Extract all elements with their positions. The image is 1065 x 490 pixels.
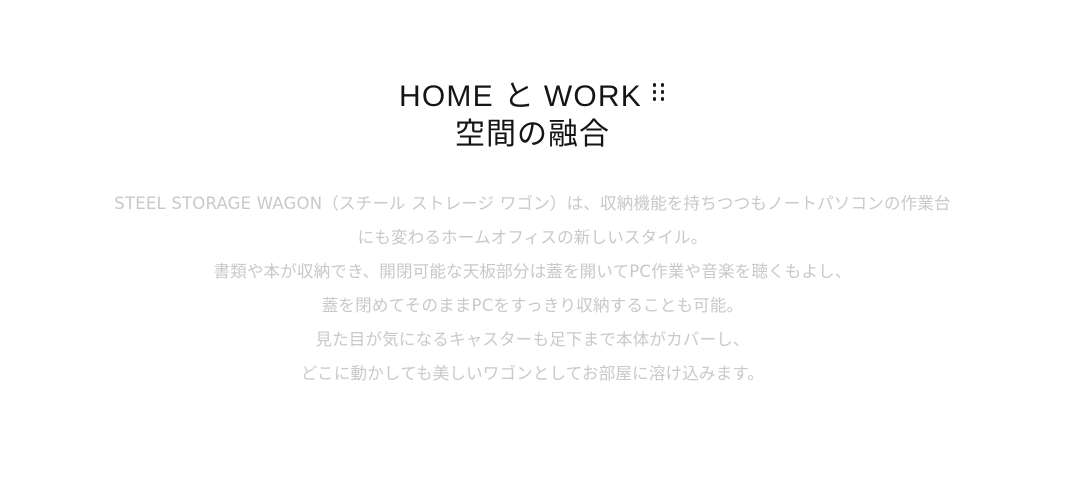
- description-line: どこに動かしても美しいワゴンとしてお部屋に溶け込みます。: [0, 357, 1065, 391]
- heading-en-prefix: HOME: [399, 80, 494, 113]
- dot-grid-row: [651, 83, 666, 90]
- description-line: 書類や本が収納でき、開閉可能な天板部分は蓋を開いてPC作業や音楽を聴くもよし、: [0, 255, 1065, 289]
- dot-icon: [661, 83, 665, 87]
- description-line: にも変わるホームオフィスの新しいスタイル。: [0, 221, 1065, 255]
- heading-secondary-line: 空間の融合: [0, 116, 1065, 154]
- page-heading: HOMEとWORK 空間の融合: [0, 78, 1065, 154]
- heading-primary-line: HOMEとWORK: [0, 78, 1065, 116]
- dot-grid-row: [651, 97, 666, 104]
- heading-en-suffix: WORK: [544, 80, 642, 113]
- heading-ja-connector: と: [504, 79, 534, 114]
- dot-icon: [653, 83, 657, 87]
- product-description-page: HOMEとWORK 空間の融合 STEEL STORAGE WAGON（スチール…: [0, 0, 1065, 490]
- dot-icon: [661, 97, 665, 101]
- dot-grid-icon: [651, 83, 666, 104]
- description-line: 蓋を閉めてそのままPCをすっきり収納することも可能。: [0, 289, 1065, 323]
- dot-icon: [653, 90, 657, 94]
- dot-grid-row: [651, 90, 666, 97]
- dot-icon: [653, 97, 657, 101]
- description-line: 見た目が気になるキャスターも足下まで本体がカバーし、: [0, 323, 1065, 357]
- description-body: STEEL STORAGE WAGON（スチール ストレージ ワゴン）は、収納機…: [0, 187, 1065, 391]
- dot-icon: [661, 90, 665, 94]
- description-line: STEEL STORAGE WAGON（スチール ストレージ ワゴン）は、収納機…: [0, 187, 1065, 221]
